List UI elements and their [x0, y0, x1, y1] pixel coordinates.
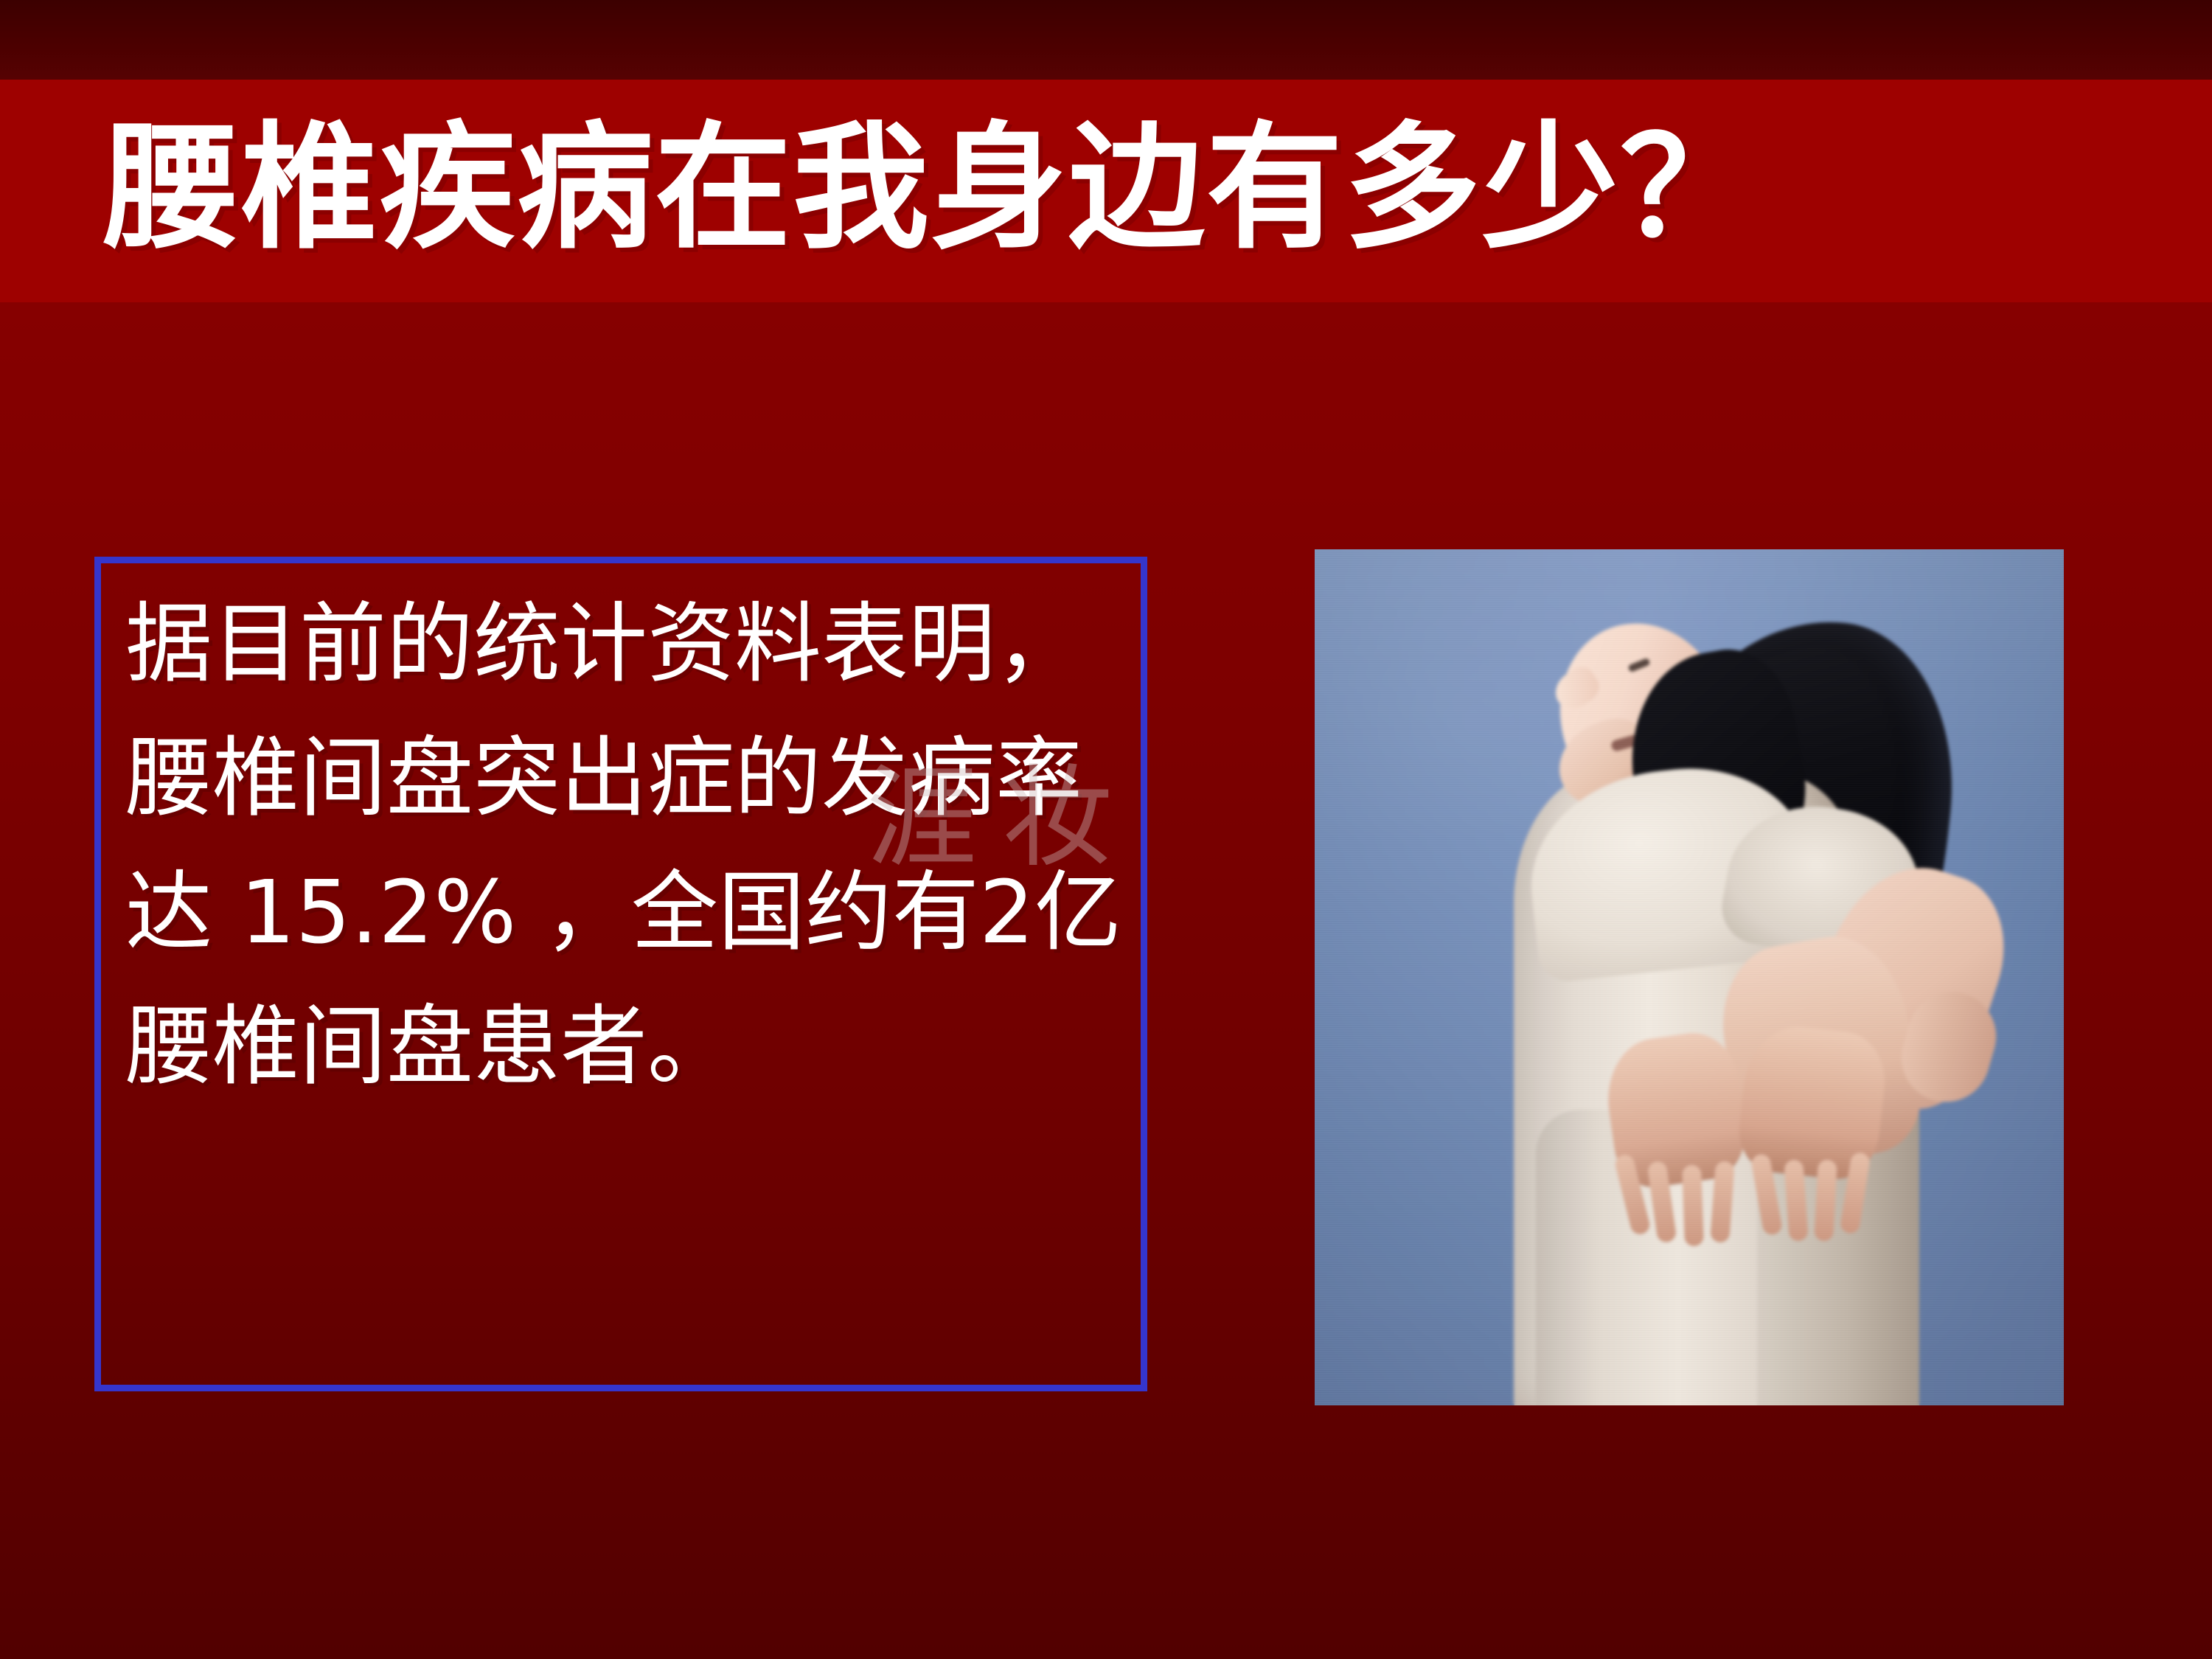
- top-dark-strip: [0, 0, 2212, 80]
- statistics-text-box: 据目前的统计资料表明，腰椎间盘突出症的发病率达 15.2% ，全国约有2亿腰椎间…: [94, 557, 1147, 1391]
- page-title: 腰椎疾病在我身边有多少？: [103, 120, 1758, 257]
- statistics-body-text: 据目前的统计资料表明，腰椎间盘突出症的发病率达 15.2% ，全国约有2亿腰椎间…: [125, 577, 1128, 1113]
- title-band: 腰椎疾病在我身边有多少？: [0, 80, 2212, 302]
- photo-illustration: [1315, 549, 2064, 1405]
- slide-root: 腰椎疾病在我身边有多少？ 据目前的统计资料表明，腰椎间盘突出症的发病率达 15.…: [0, 0, 2212, 1659]
- back-pain-photo: [1315, 549, 2064, 1405]
- finger-3: [1682, 1165, 1704, 1247]
